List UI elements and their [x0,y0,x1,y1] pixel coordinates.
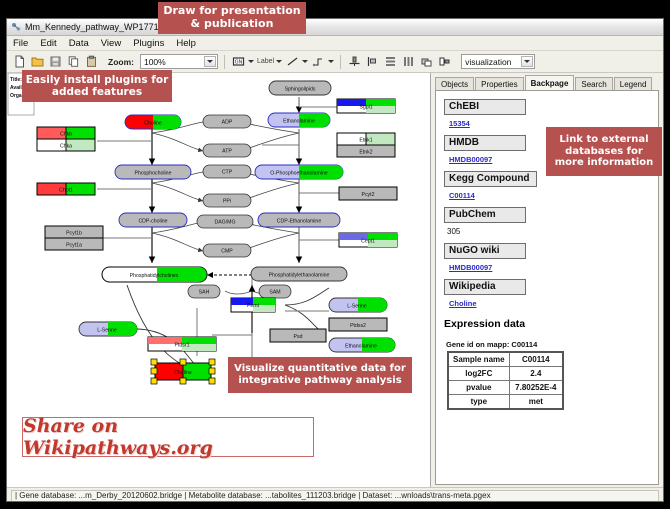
node-choline-selected: Choline [151,359,215,384]
callout-plugins-line1: Easily install plugins for [26,74,169,86]
chevron-down-icon[interactable] [204,56,216,67]
menu-item-help[interactable]: Help [174,38,198,49]
tab-properties[interactable]: Properties [475,77,523,90]
callout-draw: Draw for presentation & publication [158,2,306,34]
datanode-dropdown[interactable]: GN [231,54,254,69]
expr-cell-label: type [448,395,509,410]
section-header-wikipedia: Wikipedia [444,279,526,295]
expression-table: Sample name C00114 log2FC 2.4 pvalue 7.8… [447,351,564,410]
table-row: type met [448,395,563,410]
node-pcyt2: Pcyt2 [339,187,397,200]
open-folder-icon[interactable] [30,54,45,69]
node-ptdsr1: Ptdsr1 [148,337,216,351]
callout-visualize-line1: Visualize quantitative data for [234,363,406,375]
svg-text:DAG/MG: DAG/MG [214,220,235,226]
svg-text:Choline: Choline [174,370,192,376]
node-phosphatidylcholines: Phosphatidylcholines [102,267,207,282]
section-header-kegg: Kegg Compound [444,171,537,187]
section-header-pubchem: PubChem [444,207,526,223]
node-sphingolipids: Sphingolipids [269,81,331,95]
svg-text:ATP: ATP [222,149,232,155]
menu-item-data[interactable]: Data [67,38,91,49]
node-o-phosphoethanolamine: O-Phosphoethanolamine [255,165,343,179]
tab-backpage[interactable]: Backpage [525,75,575,90]
node-cept1: Cept1 [339,233,397,247]
svg-text:L-Serine: L-Serine [347,304,367,310]
svg-text:O-Phosphoethanolamine: O-Phosphoethanolamine [270,171,328,177]
menu-item-file[interactable]: File [11,38,30,49]
svg-text:CDP-choline: CDP-choline [138,219,167,225]
svg-text:CTP: CTP [222,170,233,176]
node-pcyt1a: Pcyt1a [45,238,103,250]
link-kegg[interactable]: C00114 [449,191,658,200]
paste-icon[interactable] [84,54,99,69]
node-cmp: CMP [203,244,251,257]
svg-text:L-Serine: L-Serine [97,328,117,334]
svg-text:Sphingolipids: Sphingolipids [285,87,316,93]
svg-text:Ptdss2: Ptdss2 [350,323,366,329]
svg-text:Chka: Chka [60,144,72,150]
title-bar: Mm_Kennedy_pathway_WP1771_45176.gpml [7,19,663,36]
menu-bar: File Edit Data View Plugins Help [7,36,663,51]
order-back-icon[interactable] [419,54,434,69]
callout-visualize: Visualize quantitative data for integrat… [228,357,412,393]
connector-dropdown[interactable] [311,54,334,69]
callout-share: Share on Wikipathways.org [22,417,314,457]
label-dropdown-text: Label [257,58,274,65]
svg-text:Sgpl1: Sgpl1 [359,105,372,111]
svg-text:Psd: Psd [294,334,303,340]
menu-item-edit[interactable]: Edit [38,38,58,49]
section-header-hmdb: HMDB [444,135,526,151]
tab-search[interactable]: Search [575,77,612,90]
line-icon[interactable] [285,54,300,69]
svg-text:Pcyt1a: Pcyt1a [66,243,82,249]
new-file-icon[interactable] [12,54,27,69]
svg-text:PPi: PPi [223,199,231,205]
expr-cell-value: 7.80252E-4 [509,381,563,395]
expression-data-header: Expression data [444,318,658,330]
copy-icon[interactable] [66,54,81,69]
node-ethanolamine-top: Ethanolamine [268,113,330,127]
svg-text:Ethanolamine: Ethanolamine [283,119,315,125]
node-cdp-choline: CDP-choline [119,213,187,227]
save-disk-icon[interactable] [48,54,63,69]
node-sah: SAH [188,285,220,298]
svg-text:Etnk2: Etnk2 [359,150,372,156]
expr-cell-label: Sample name [448,352,509,367]
svg-text:Pcyt1b: Pcyt1b [66,231,82,237]
svg-text:Pcyt2: Pcyt2 [362,192,375,198]
menu-item-plugins[interactable]: Plugins [131,38,166,49]
svg-text:ADP: ADP [222,120,233,126]
svg-text:CMP: CMP [221,249,233,255]
callout-visualize-line2: integrative pathway analysis [238,375,401,387]
svg-text:Etnk1: Etnk1 [359,138,372,144]
node-chka: Chka [37,139,95,151]
callout-link-line3: more information [555,157,654,169]
side-panel-tabs: Objects Properties Backpage Search Legen… [431,75,663,90]
distribute-horizontal-icon[interactable] [401,54,416,69]
svg-text:Choline: Choline [144,121,162,127]
node-l-serine-right: L-Serine [329,298,387,312]
svg-text:Phosphocholine: Phosphocholine [135,171,172,177]
expr-cell-value: met [509,395,563,410]
svg-text:CDP-Ethanolamine: CDP-Ethanolamine [277,219,322,225]
svg-text:Ptdsr1: Ptdsr1 [175,343,190,349]
node-adp: ADP [203,115,251,128]
node-sgpl1: Sgpl1 [337,99,395,113]
node-etnk1: Etnk1 [337,133,395,145]
node-pemt: Pemt [231,298,275,312]
toolbar-separator [224,55,225,69]
order-front-icon[interactable] [437,54,452,69]
svg-text:Ethanolamine: Ethanolamine [345,344,377,350]
node-cdp-ethanolamine: CDP-Ethanolamine [258,213,340,227]
table-row: log2FC 2.4 [448,367,563,381]
node-atp: ATP [203,144,251,157]
svg-text:Phosphatidylcholines: Phosphatidylcholines [130,273,179,279]
node-psd: Psd [270,329,326,342]
tab-objects[interactable]: Objects [435,77,474,90]
svg-text:GN: GN [235,60,243,66]
node-phosphatidylethanolamine: Phosphatidylethanolamine [251,267,347,281]
link-nugo[interactable]: HMDB00097 [449,263,658,272]
zoom-value: 100% [144,57,166,67]
toolbar-separator-2 [340,55,341,69]
callout-link: Link to external databases for more info… [546,127,662,176]
connector-icon[interactable] [311,54,326,69]
section-header-nugo: NuGO wiki [444,243,526,259]
svg-text:SAM: SAM [269,290,280,296]
svg-text:Phosphatidylethanolamine: Phosphatidylethanolamine [269,273,330,279]
node-ppi: PPi [203,194,251,207]
status-text: | Gene database: ...m_Derby_20120602.bri… [11,490,659,502]
visualization-chevron-down-icon[interactable] [521,56,533,67]
node-pcyt1b: Pcyt1b [45,226,103,238]
section-header-chebi: ChEBI [444,99,526,115]
callout-plugins: Easily install plugins for added feature… [22,70,172,102]
callout-link-line2: databases for [565,146,643,158]
table-row: pvalue 7.80252E-4 [448,381,563,395]
align-left-icon[interactable] [365,54,380,69]
pathvisio-icon [11,22,21,32]
visualization-combo[interactable]: visualization [461,54,535,69]
datanode-icon[interactable]: GN [231,54,246,69]
tab-legend[interactable]: Legend [614,77,653,90]
callout-plugins-line2: added features [52,86,142,98]
node-etnk2: Etnk2 [337,145,395,157]
node-sam: SAM [259,285,291,298]
visualization-value: visualization [465,57,511,67]
node-dag: DAG/MG [197,215,253,228]
svg-text:Chkb: Chkb [60,132,72,138]
label-dropdown[interactable]: Label [257,58,282,65]
callout-draw-line2: & publication [191,18,274,31]
svg-text:Cept1: Cept1 [361,239,375,245]
node-chpt1: Chpt1 [37,183,95,195]
line-dropdown[interactable] [285,54,308,69]
node-ptdss2: Ptdss2 [329,318,387,331]
expr-cell-value: C00114 [509,352,563,367]
gene-id-on-mapp: Gene id on mapp: C00114 [446,340,658,349]
svg-text:Pemt: Pemt [247,303,260,309]
zoom-combo[interactable]: 100% [140,54,218,69]
node-choline-top: Choline [125,115,181,129]
expr-cell-label: pvalue [448,381,509,395]
stack-vertical-icon[interactable] [383,54,398,69]
node-l-serine-left: L-Serine [79,322,137,336]
zoom-label: Zoom: [108,57,134,67]
callout-share-text: Share on Wikipathways.org [23,415,313,459]
svg-text:SAH: SAH [199,290,210,296]
svg-text:Title:: Title: [10,77,22,83]
callout-link-line1: Link to external [559,134,648,146]
expr-cell-value: 2.4 [509,367,563,381]
status-bar: | Gene database: ...m_Derby_20120602.bri… [7,487,663,502]
align-bottom-icon[interactable] [347,54,362,69]
table-row: Sample name C00114 [448,352,563,367]
node-chkb: Chkb [37,127,95,139]
menu-item-view[interactable]: View [99,38,123,49]
node-phosphocholine: Phosphocholine [115,165,191,179]
link-wikipedia[interactable]: Choline [449,299,658,308]
svg-text:Chpt1: Chpt1 [59,188,73,194]
expr-cell-label: log2FC [448,367,509,381]
value-pubchem: 305 [447,227,658,236]
node-ethanolamine-bottom: Ethanolamine [329,338,395,352]
node-ctp: CTP [203,165,251,178]
